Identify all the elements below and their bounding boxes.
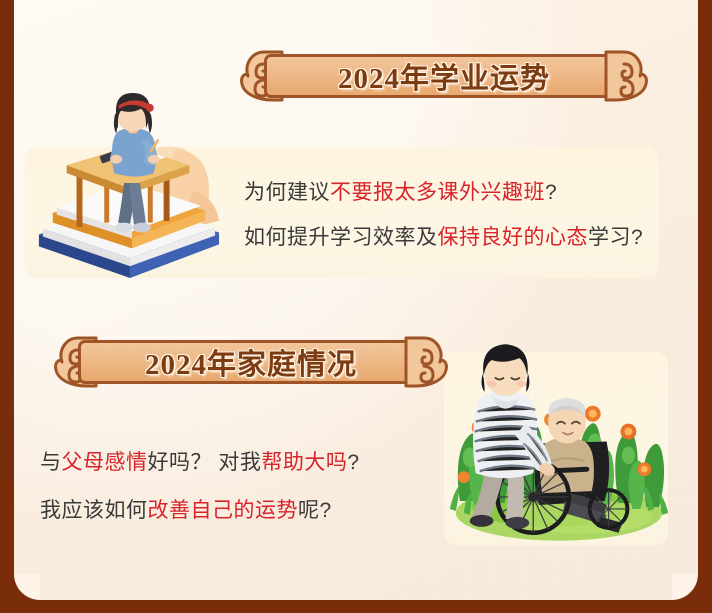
q-part: 如何提升学习效率及 [244, 226, 438, 249]
academic-banner-title: 2024年学业运势 [338, 55, 550, 97]
q-part: ? [347, 451, 359, 474]
q-part: 好吗？ 对我 [148, 451, 262, 474]
caregiver-elderly-illustration [434, 332, 686, 548]
caregiver-elderly-svg [434, 332, 684, 547]
q-part-highlight: 不要报太多课外兴趣班 [330, 181, 545, 204]
poster-page: 2024年学业运势 为何建议不要报太多课外兴趣班? 如何提升学习效率及保持良好的… [14, 0, 698, 600]
family-banner-bar: 2024年家庭情况 [78, 340, 424, 384]
student-studying-illustration [8, 88, 248, 280]
family-question-2: 我应该如何改善自己的运势呢? [40, 500, 332, 521]
family-banner-title: 2024年家庭情况 [145, 341, 357, 383]
q-part: 我应该如何 [40, 499, 148, 522]
q-part: 呢? [298, 499, 332, 522]
q-part: ? [545, 181, 557, 204]
page-notch-left [14, 574, 40, 600]
academic-banner: 2024年学业运势 [238, 48, 650, 104]
q-part-highlight: 保持良好的心态 [438, 226, 589, 249]
cloud-scroll-ornament-right [404, 334, 450, 390]
q-part-highlight: 帮助大吗 [261, 451, 347, 474]
fortune-poster: 2024年学业运势 为何建议不要报太多课外兴趣班? 如何提升学习效率及保持良好的… [0, 0, 712, 613]
family-question-1: 与父母感情好吗？ 对我帮助大吗? [40, 452, 360, 473]
cloud-scroll-ornament-right [604, 48, 650, 104]
q-part: 学习? [588, 226, 643, 249]
academic-question-1: 为何建议不要报太多课外兴趣班? [244, 182, 557, 203]
academic-banner-bar: 2024年学业运势 [264, 54, 624, 98]
family-banner: 2024年家庭情况 [52, 334, 450, 390]
page-notch-right [672, 574, 698, 600]
q-part-highlight: 改善自己的运势 [148, 499, 299, 522]
academic-question-2: 如何提升学习效率及保持良好的心态学习? [244, 227, 643, 248]
student-studying-svg [8, 88, 248, 278]
q-part: 为何建议 [244, 181, 330, 204]
q-part: 与 [40, 451, 62, 474]
q-part-highlight: 父母感情 [62, 451, 148, 474]
